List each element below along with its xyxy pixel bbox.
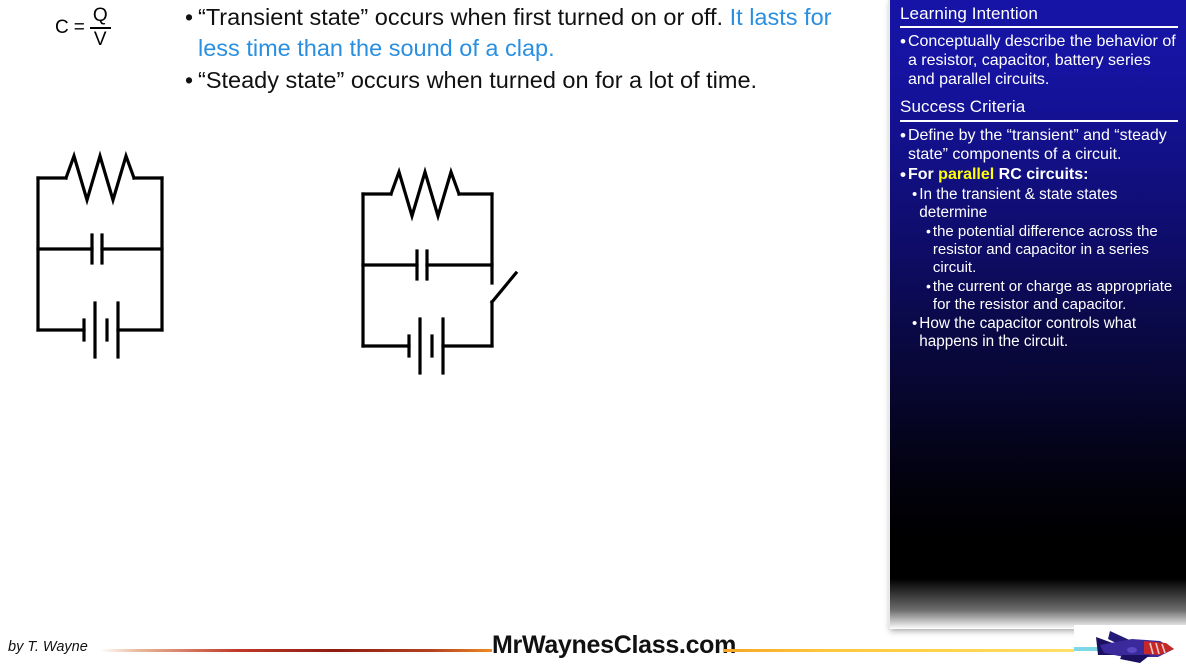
success-criteria-item-4-text: the potential difference across the resi… [933, 223, 1180, 277]
site-title: MrWaynesClass.com [492, 631, 736, 660]
slide-main-content: C = Q V • “Transient state” occurs when … [0, 0, 886, 667]
resistor-zigzag-1 [66, 156, 134, 200]
learning-intention-item-1-text: Conceptually describe the behavior of a … [908, 32, 1180, 89]
bullet-dot-icon: • [912, 186, 917, 204]
objectives-panel: Learning Intention • Conceptually descri… [888, 0, 1186, 629]
byline: by T. Wayne [8, 639, 88, 655]
success-criteria-item-5: • the current or charge as appropriate f… [898, 278, 1180, 314]
learning-intention-heading: Learning Intention [898, 2, 1180, 25]
bullet-dot-icon: • [900, 165, 906, 185]
circuit-2-parallel-rc-with-switch [363, 172, 516, 373]
footer-rule-right [723, 649, 1078, 652]
bullet-dot-icon: • [912, 315, 917, 333]
circuit-diagrams [0, 0, 886, 667]
success-criteria-item-2: • For parallel RC circuits: [898, 165, 1180, 185]
success-criteria-divider [900, 120, 1178, 122]
success-criteria-item-4: • the potential difference across the re… [898, 223, 1180, 277]
sc2-highlight: parallel [938, 166, 994, 183]
sc2-after: RC circuits: [994, 166, 1088, 183]
bullet-dot-icon: • [900, 126, 906, 146]
learning-intention-item-1: • Conceptually describe the behavior of … [898, 32, 1180, 89]
success-criteria-item-3: • In the transient & state states determ… [898, 186, 1180, 222]
success-criteria-heading: Success Criteria [898, 95, 1180, 118]
switch-open-blade-icon [492, 273, 516, 302]
bullet-dot-icon: • [926, 223, 931, 240]
success-criteria-item-6-text: How the capacitor controls what happens … [919, 315, 1180, 351]
footer: by T. Wayne MrWaynesClass.com [0, 627, 1186, 667]
spaceship-logo [1074, 625, 1186, 667]
success-criteria-item-2-text: For parallel RC circuits: [908, 165, 1180, 184]
success-criteria-item-1-text: Define by the “transient” and “steady st… [908, 126, 1180, 164]
bullet-dot-icon: • [926, 278, 931, 295]
learning-intention-divider [900, 26, 1178, 28]
success-criteria-item-5-text: the current or charge as appropriate for… [933, 278, 1180, 314]
success-criteria-item-6: • How the capacitor controls what happen… [898, 315, 1180, 351]
resistor-zigzag-2 [391, 172, 459, 216]
sc2-before: For [908, 166, 938, 183]
success-criteria-item-3-text: In the transient & state states determin… [919, 186, 1180, 222]
success-criteria-item-1: • Define by the “transient” and “steady … [898, 126, 1180, 164]
bullet-dot-icon: • [900, 32, 906, 52]
footer-rule-left [100, 649, 492, 652]
circuit-1-parallel-rc [38, 156, 162, 357]
